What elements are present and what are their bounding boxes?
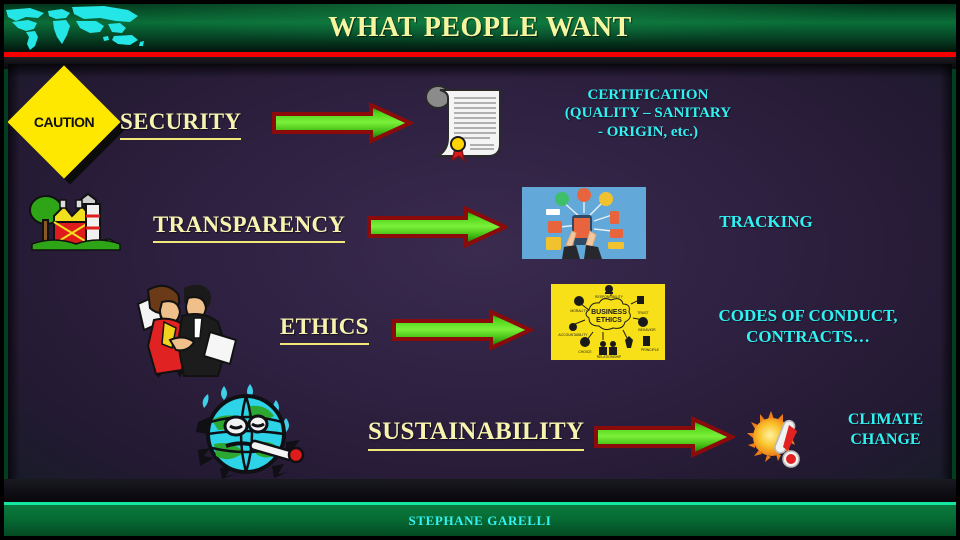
handshake-business-people-icon (126, 282, 238, 378)
row-label-ethics: ETHICS (280, 314, 369, 345)
tracking-line-1: TRACKING (656, 212, 876, 233)
arrow-security (271, 102, 413, 144)
svg-text:BEHAVIOR: BEHAVIOR (638, 328, 656, 332)
row-label-ethics-text: ETHICS (280, 314, 369, 345)
svg-text:TRUST: TRUST (637, 311, 648, 315)
row-label-security: SECURITY (120, 109, 241, 140)
svg-text:CHOICE: CHOICE (578, 350, 592, 354)
certification-line-3: - ORIGIN, etc.) (508, 123, 788, 141)
row-label-transparency: TRANSPARENCY (153, 212, 345, 243)
footer-author: STEPHANE GARELLI (409, 513, 552, 529)
row-transparency: TRANSPARENCY (8, 176, 952, 276)
codes-line-1: CODES OF CONDUCT, (668, 306, 948, 327)
arrow-sustainability (593, 416, 735, 458)
row-ethics: ETHICS BUSINESS ETHICS (8, 274, 952, 384)
svg-text:BUSINESS: BUSINESS (591, 309, 627, 316)
arrow-ethics (391, 309, 533, 351)
svg-text:MORALITY: MORALITY (570, 309, 588, 313)
svg-text:RELATIONSHIP: RELATIONSHIP (597, 355, 622, 359)
slide-body: CAUTION SECURITY (8, 64, 952, 479)
right-text-tracking: TRACKING (656, 212, 876, 233)
climate-line-1: CLIMATE (808, 410, 952, 430)
row-security: CAUTION SECURITY (8, 64, 952, 174)
row-sustainability: SUSTAINABILITY (8, 382, 952, 479)
right-text-climate-change: CLIMATE CHANGE (808, 410, 952, 449)
slide-header: WHAT PEOPLE WANT (4, 4, 956, 52)
certification-line-1: CERTIFICATION (508, 86, 788, 104)
caution-sign-label: CAUTION (24, 82, 104, 162)
row-label-security-text: SECURITY (120, 109, 241, 140)
svg-text:PRINCIPLE: PRINCIPLE (641, 348, 660, 352)
business-ethics-infographic: BUSINESS ETHICS MORALITY RESPONSIBILITY … (551, 284, 665, 360)
climate-line-2: CHANGE (808, 430, 952, 450)
page-title: WHAT PEOPLE WANT (4, 4, 956, 52)
svg-text:RESPONSIBILITY: RESPONSIBILITY (595, 295, 624, 299)
svg-text:ACCOUNTABILITY: ACCOUNTABILITY (558, 333, 588, 337)
slide-canvas: WHAT PEOPLE WANT CAUTION SECURITY (0, 0, 960, 540)
arrow-transparency (366, 206, 508, 248)
row-label-sustainability: SUSTAINABILITY (368, 418, 584, 451)
slide-footer: STEPHANE GARELLI (4, 505, 956, 536)
right-text-codes-of-conduct: CODES OF CONDUCT, CONTRACTS… (668, 306, 948, 347)
footer-shadow-shelf (4, 479, 956, 503)
row-label-sustainability-text: SUSTAINABILITY (368, 418, 584, 451)
codes-line-2: CONTRACTS… (668, 327, 948, 348)
row-label-transparency-text: TRANSPARENCY (153, 212, 345, 243)
certificate-scroll-icon (418, 84, 510, 162)
right-text-certification: CERTIFICATION (QUALITY – SANITARY - ORIG… (508, 86, 788, 141)
caution-sign-icon: CAUTION (24, 82, 116, 174)
sick-earth-thermometer-icon (190, 382, 308, 479)
svg-text:ETHICS: ETHICS (596, 317, 622, 324)
farm-barn-icon (24, 192, 124, 252)
mobile-shopping-tracking-image (522, 187, 646, 259)
sun-thermometer-icon (745, 409, 807, 471)
certification-line-2: (QUALITY – SANITARY (508, 104, 788, 122)
